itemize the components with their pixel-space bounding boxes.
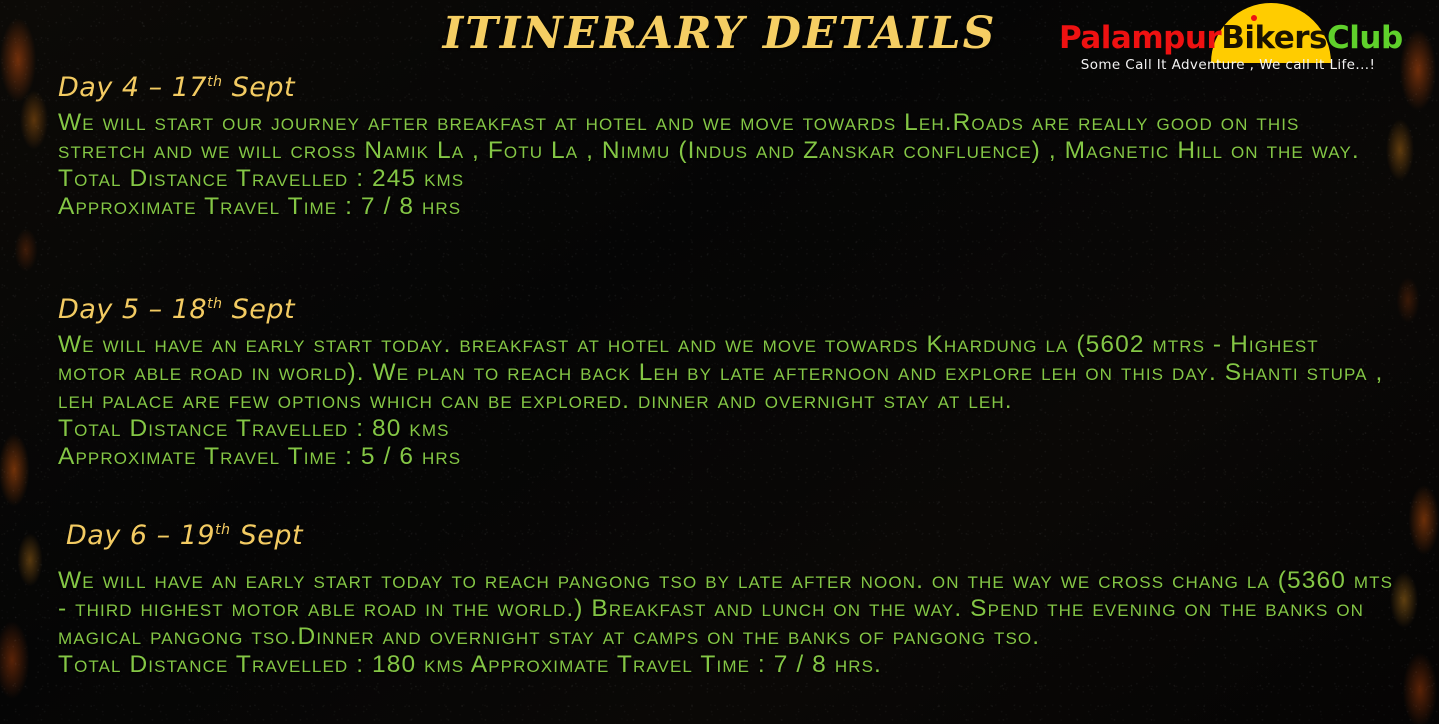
logo-i-dot-icon — [1251, 15, 1257, 21]
day-distance-6: Total Distance Travelled : 180 kms Appro… — [58, 651, 1396, 679]
logo-word-club: Club — [1327, 20, 1403, 56]
logo-word-bikers: Bikers — [1221, 20, 1327, 56]
day-heading-5-prefix: Day 5 – 18 — [58, 294, 207, 325]
day-paragraph-5: We will have an early start today. break… — [58, 331, 1388, 415]
day-heading-4-suffix: Sept — [223, 72, 296, 103]
day-paragraph-4: We will start our journey after breakfas… — [58, 109, 1388, 165]
day-heading-6-suffix: Sept — [231, 520, 304, 551]
day-heading-6-ordinal: th — [215, 522, 230, 538]
day-distance-5: Total Distance Travelled : 80 kms — [58, 415, 1388, 443]
logo-tagline: Some Call It Adventure , We call it Life… — [1065, 57, 1391, 73]
day-block-4: Day 4 – 17th Sept We will start our jour… — [58, 72, 1388, 221]
day-heading-5: Day 5 – 18th Sept — [58, 294, 1388, 325]
day-heading-5-suffix: Sept — [223, 294, 296, 325]
day-paragraph-6: We will have an early start today to rea… — [58, 567, 1396, 651]
day-heading-6: Day 6 – 19th Sept — [66, 520, 1396, 551]
day-distance-4: Total Distance Travelled : 245 kms — [58, 165, 1388, 193]
day-time-5: Approximate Travel Time : 5 / 6 hrs — [58, 443, 1388, 471]
day-block-5: Day 5 – 18th Sept We will have an early … — [58, 294, 1388, 471]
day-heading-6-prefix: Day 6 – 19 — [66, 520, 215, 551]
day-block-6: Day 6 – 19th Sept We will have an early … — [66, 520, 1396, 679]
itinerary-slide: ITINERARY DETAILS PalampurBikersClub Som… — [0, 0, 1439, 724]
day-heading-4-ordinal: th — [207, 74, 222, 90]
logo-word-palampur: Palampur — [1059, 20, 1221, 56]
logo-wordmark: PalampurBikersClub — [1059, 18, 1391, 58]
day-time-4: Approximate Travel Time : 7 / 8 hrs — [58, 193, 1388, 221]
itinerary-content: Day 4 – 17th Sept We will start our jour… — [0, 0, 1439, 724]
day-heading-5-ordinal: th — [207, 296, 222, 312]
day-heading-4-prefix: Day 4 – 17 — [58, 72, 207, 103]
palampur-bikers-club-logo: PalampurBikersClub Some Call It Adventur… — [1059, 2, 1391, 78]
